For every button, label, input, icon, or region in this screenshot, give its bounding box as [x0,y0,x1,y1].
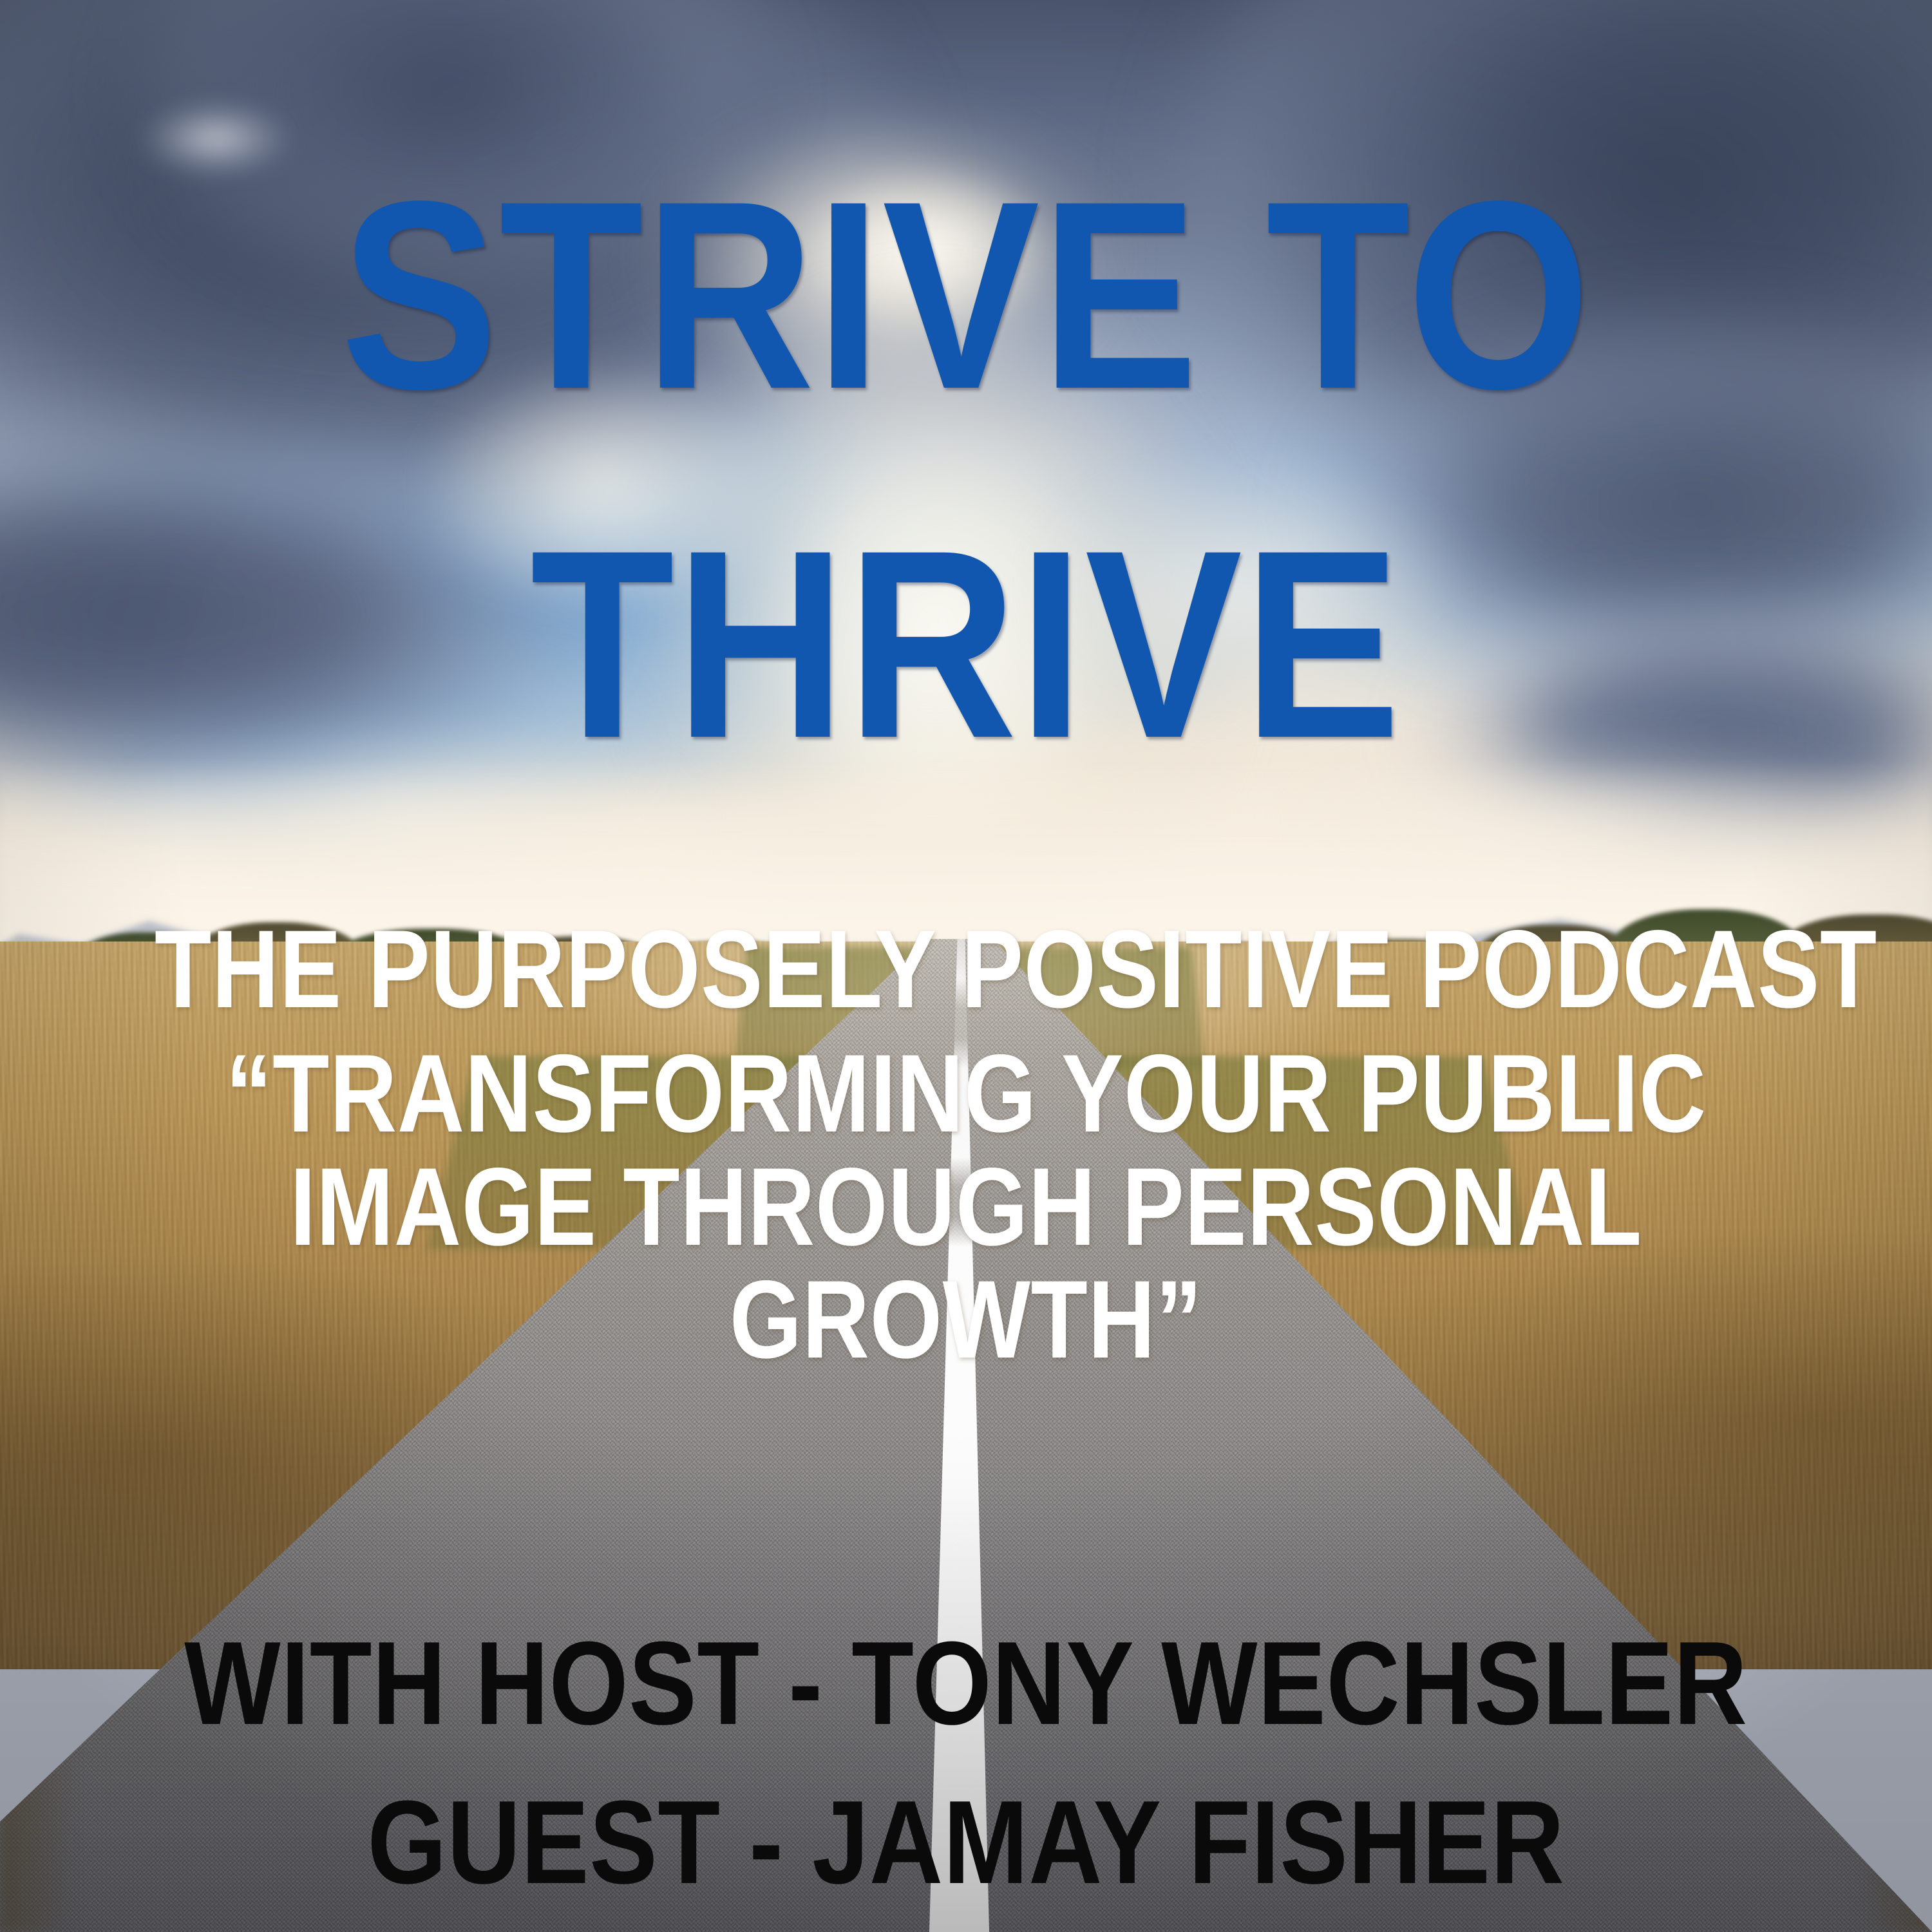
tagline-line-2: IMAGE THROUGH PERSONAL [155,1151,1777,1264]
host-credit: WITH HOST - TONY WECHSLER [135,1604,1797,1763]
tagline-line-1: “TRANSFORMING YOUR PUBLIC [155,1037,1777,1150]
text-overlay: STRIVE TO THRIVE THE PURPOSELY POSITIVE … [0,0,1932,1932]
title-line-2: THRIVE [116,522,1816,768]
subtitle-block: THE PURPOSELY POSITIVE PODCAST “TRANSFOR… [0,913,1932,1377]
show-name: THE PURPOSELY POSITIVE PODCAST [155,913,1777,1026]
guest-credit: GUEST - JAMAY FISHER [135,1763,1797,1922]
tagline-line-3: GROWTH” [155,1264,1777,1376]
podcast-cover-art: STRIVE TO THRIVE THE PURPOSELY POSITIVE … [0,0,1932,1932]
credits-block: WITH HOST - TONY WECHSLER GUEST - JAMAY … [0,1604,1932,1921]
title-line-1: STRIVE TO [116,173,1816,419]
